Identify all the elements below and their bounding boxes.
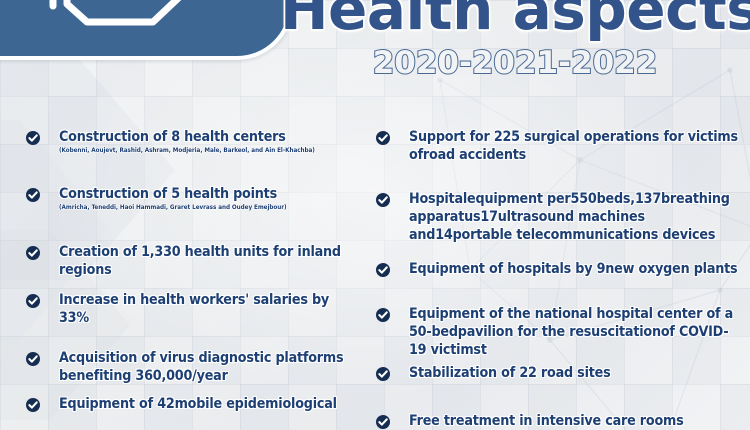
check-circle-icon	[26, 246, 40, 260]
page-title: Health aspects	[280, 0, 750, 40]
bullet-item-text: Construction of 5 health points	[59, 185, 354, 203]
caring-hands-icon	[43, 0, 193, 50]
bullet-item-body: Equipment of 42mobile epidemiological	[59, 395, 354, 413]
check-circle-icon	[26, 294, 40, 308]
bullet-item-body: Stabilization of 22 road sites	[409, 364, 740, 382]
bullet-item-text: Construction of 8 health centers	[59, 128, 354, 146]
bullet-item-text: Increase in health workers' salaries by …	[59, 291, 354, 327]
bullet-item-text: Equipment of hospitals by 9new oxygen pl…	[409, 260, 740, 278]
check-circle-icon	[26, 398, 40, 412]
check-circle-icon	[376, 367, 390, 381]
bullet-item-subtext: (Kobenni, Aoujevt, Rashid, Ashram, Modje…	[59, 147, 354, 155]
bullet-item-text: Free treatment in intensive care rooms	[409, 412, 740, 430]
bullet-item: Acquisition of virus diagnostic platform…	[26, 349, 354, 385]
check-circle-icon	[376, 415, 390, 429]
bullet-item-body: Increase in health workers' salaries by …	[59, 291, 354, 327]
bullet-item: Stabilization of 22 road sites	[376, 364, 740, 382]
check-circle-icon	[376, 193, 390, 207]
bullet-item: Support for 225 surgical operations for …	[376, 128, 740, 164]
bullet-item-body: Creation of 1,330 health units for inlan…	[59, 243, 354, 279]
bullet-item-subtext: (Amricha, Teneddi, Haoi Hammadi, Graret …	[59, 204, 354, 212]
bullet-item-body: Equipment of the national hospital cente…	[409, 305, 740, 359]
left-column: Construction of 8 health centers(Kobenni…	[0, 128, 368, 430]
bullet-item: Construction of 8 health centers(Kobenni…	[26, 128, 354, 155]
logo-panel	[0, 0, 293, 60]
bullet-item-text: Creation of 1,330 health units for inlan…	[59, 243, 354, 279]
bullet-item: Construction of 5 health points(Amricha,…	[26, 185, 354, 212]
check-circle-icon	[376, 308, 390, 322]
check-circle-icon	[376, 131, 390, 145]
check-circle-icon	[26, 188, 40, 202]
check-circle-icon	[26, 352, 40, 366]
bullet-item-body: Hospitalequipment per550beds,137breathin…	[409, 190, 740, 244]
content-columns: Construction of 8 health centers(Kobenni…	[0, 128, 750, 430]
bullet-item-body: Free treatment in intensive care rooms	[409, 412, 740, 430]
bullet-item-text: Equipment of the national hospital cente…	[409, 305, 740, 359]
bullet-item: Equipment of hospitals by 9new oxygen pl…	[376, 260, 740, 278]
right-column: Support for 225 surgical operations for …	[368, 128, 750, 430]
bullet-item: Free treatment in intensive care rooms	[376, 412, 740, 430]
check-circle-icon	[26, 131, 40, 145]
title-block: Health aspects 2020-2021-2022	[280, 0, 750, 80]
bullet-item-text: Hospitalequipment per550beds,137breathin…	[409, 190, 740, 244]
bullet-item: Equipment of the national hospital cente…	[376, 305, 740, 359]
bullet-item-body: Support for 225 surgical operations for …	[409, 128, 740, 164]
bullet-item-body: Construction of 8 health centers(Kobenni…	[59, 128, 354, 155]
bullet-item: Hospitalequipment per550beds,137breathin…	[376, 190, 740, 244]
bullet-item-body: Acquisition of virus diagnostic platform…	[59, 349, 354, 385]
infographic-poster: Health aspects 2020-2021-2022 Constructi…	[0, 0, 750, 430]
bullet-item-text: Equipment of 42mobile epidemiological	[59, 395, 354, 413]
title-years: 2020-2021-2022	[280, 46, 750, 80]
bullet-item-body: Construction of 5 health points(Amricha,…	[59, 185, 354, 212]
bullet-item-body: Equipment of hospitals by 9new oxygen pl…	[409, 260, 740, 278]
bullet-item: Increase in health workers' salaries by …	[26, 291, 354, 327]
bullet-item-text: Acquisition of virus diagnostic platform…	[59, 349, 354, 385]
bullet-item-text: Stabilization of 22 road sites	[409, 364, 740, 382]
poster-header: Health aspects 2020-2021-2022	[0, 0, 750, 100]
bullet-item: Creation of 1,330 health units for inlan…	[26, 243, 354, 279]
bullet-item-text: Support for 225 surgical operations for …	[409, 128, 740, 164]
check-circle-icon	[376, 263, 390, 277]
bullet-item: Equipment of 42mobile epidemiological	[26, 395, 354, 413]
